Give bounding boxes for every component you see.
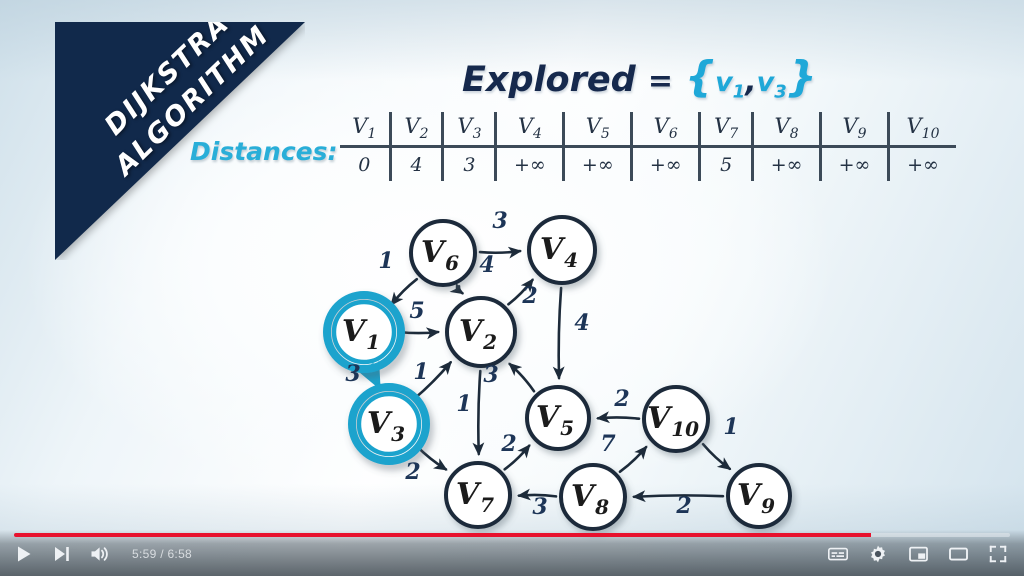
graph-edge-v4-v5 xyxy=(559,288,561,378)
graph-node-v8[interactable]: V8 xyxy=(561,465,625,529)
next-button[interactable] xyxy=(52,544,72,564)
edge-weight-v9-v8: 2 xyxy=(675,493,691,519)
edge-weight-v2-v7: 1 xyxy=(456,391,471,417)
progress-played xyxy=(14,533,871,537)
graph-edge-v10-v9 xyxy=(703,444,730,469)
progress-bar[interactable] xyxy=(14,533,1010,537)
gear-icon xyxy=(869,545,887,563)
graph-node-v1[interactable]: V1 xyxy=(327,295,401,369)
graph-diagram: V6V4V1V2V3V5V10V7V8V9 13453241213227321 xyxy=(0,0,1024,576)
graph-node-v10[interactable]: V10 xyxy=(644,387,708,451)
subtitles-icon xyxy=(828,546,848,562)
player-controls-right xyxy=(828,544,1008,564)
edge-weight-v4-v5: 4 xyxy=(574,310,589,336)
theater-icon xyxy=(949,546,968,562)
graph-edge-v10-v5 xyxy=(598,417,639,418)
settings-button[interactable] xyxy=(868,544,888,564)
graph-node-v4[interactable]: V4 xyxy=(529,217,595,283)
edge-weight-v2-v4: 2 xyxy=(521,283,537,309)
video-player-controls: 5:59 / 6:58 xyxy=(0,530,1024,576)
graph-edge-v2-v7 xyxy=(478,371,480,454)
edge-weight-v6-v1: 1 xyxy=(378,248,393,274)
edge-weight-v7-v5: 2 xyxy=(500,431,516,457)
edge-weight-v1-v2: 5 xyxy=(409,298,424,324)
play-icon xyxy=(15,545,33,563)
fullscreen-button[interactable] xyxy=(988,544,1008,564)
time-display: 5:59 / 6:58 xyxy=(132,547,192,561)
fullscreen-icon xyxy=(989,545,1007,563)
graph-node-v2[interactable]: V2 xyxy=(447,298,515,366)
miniplayer-icon xyxy=(909,546,928,562)
edge-weight-v5-v2: 3 xyxy=(483,362,498,388)
edge-weight-v3-v7: 2 xyxy=(404,459,420,485)
volume-icon xyxy=(90,545,110,563)
edge-weight-v8-v7: 3 xyxy=(532,494,547,520)
edge-weight-v10-v5: 2 xyxy=(613,386,629,412)
graph-node-v9[interactable]: V9 xyxy=(728,465,790,527)
video-player-stage: DIJKSTRA ALGORITHM Explored = {v1,v3} Di… xyxy=(0,0,1024,576)
graph-edge-v6-v2 xyxy=(459,286,462,293)
edge-weight-v6-v4: 3 xyxy=(492,208,507,234)
graph-node-v3[interactable]: V3 xyxy=(352,387,426,461)
edge-weight-v3-v2: 1 xyxy=(413,359,428,385)
edge-weight-v1-v3: 3 xyxy=(345,361,360,387)
edge-weight-v10-v9: 1 xyxy=(723,414,738,440)
miniplayer-button[interactable] xyxy=(908,544,928,564)
theater-button[interactable] xyxy=(948,544,968,564)
edge-weight-v6-v2: 4 xyxy=(479,252,494,278)
graph-edge-v5-v2 xyxy=(510,364,534,391)
player-controls-left: 5:59 / 6:58 xyxy=(14,544,192,564)
graph-node-v6[interactable]: V6 xyxy=(411,221,475,285)
subtitles-button[interactable] xyxy=(828,544,848,564)
graph-node-v5[interactable]: V5 xyxy=(527,387,589,449)
volume-button[interactable] xyxy=(90,544,110,564)
next-icon xyxy=(53,545,71,563)
graph-node-v7[interactable]: V7 xyxy=(446,463,510,527)
edge-weight-v8-v10: 7 xyxy=(600,431,616,457)
play-button[interactable] xyxy=(14,544,34,564)
graph-edge-v8-v10 xyxy=(620,447,646,472)
